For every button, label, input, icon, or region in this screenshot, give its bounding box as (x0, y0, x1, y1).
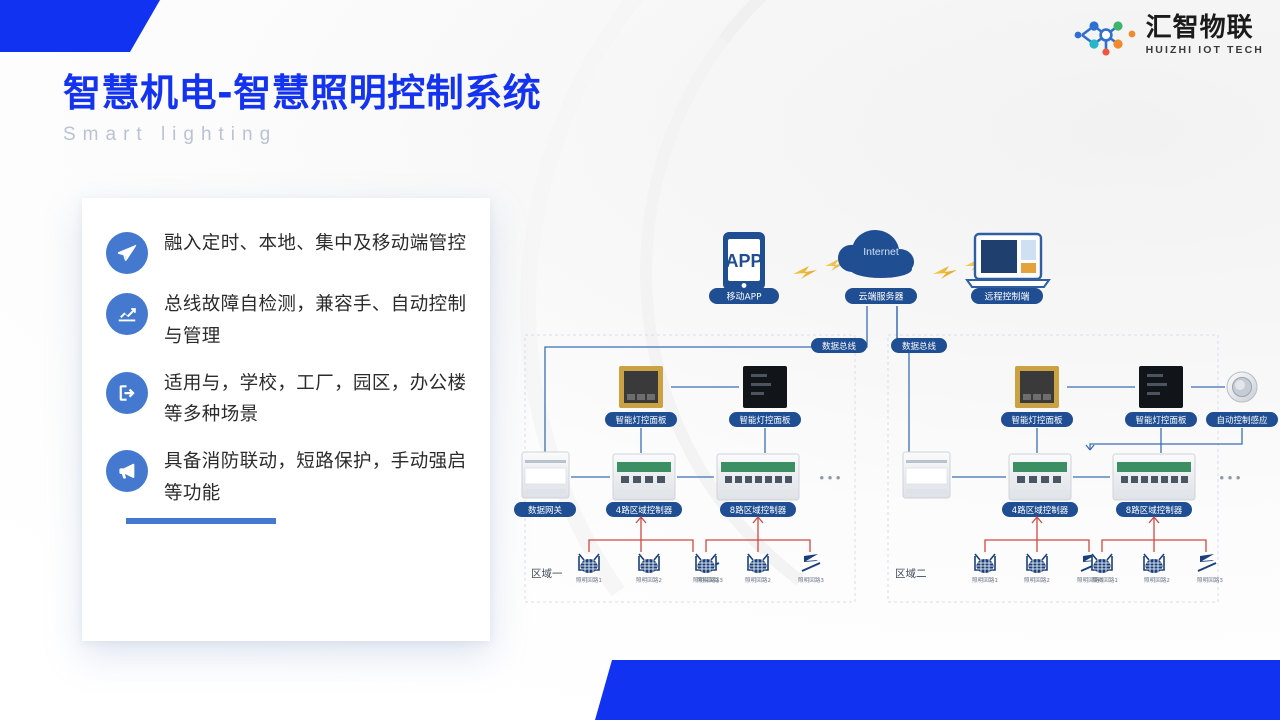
features-card: 融入定时、本地、集中及移动端管控 总线故障自检测，兼容手、自动控制与管理 适用与… (82, 198, 490, 641)
zone-one-panel-1-badge[interactable]: 智能灯控面板 (605, 412, 677, 427)
zone-two-link-lines (952, 387, 1242, 477)
svg-text:照明回路2: 照明回路2 (1024, 576, 1050, 584)
svg-text:照明回路2: 照明回路2 (1144, 576, 1170, 584)
zone-two-panel-1-badge[interactable]: 智能灯控面板 (1001, 412, 1073, 427)
auto-sensor-label: 自动控制感应 (1216, 415, 1268, 426)
mobile-app-label: 移动APP (726, 291, 762, 303)
svg-text:照明回路1: 照明回路1 (576, 576, 602, 584)
app-glyph-text: APP (725, 251, 762, 271)
mobile-app-badge[interactable]: 移动APP (709, 288, 779, 304)
zone-two-lamps-cluster2 (1092, 554, 1216, 573)
zone-two-gateway-icon (903, 452, 950, 498)
zone-one-panel-2-badge[interactable]: 智能灯控面板 (729, 412, 801, 427)
svg-text:照明回路2: 照明回路2 (636, 576, 662, 584)
zone-one-panel-1-icon (619, 366, 663, 408)
svg-text:照明回路2: 照明回路2 (745, 576, 771, 584)
zone-two-circuit-labels-b: 照明回路1 照明回路2 照明回路3 (1092, 576, 1223, 584)
zone-one-controller-4ch-icon (613, 454, 675, 500)
lamp-icon-downlight-3-1 (975, 554, 995, 573)
zone-one-controller-4ch-badge[interactable]: 4路区域控制器 (606, 502, 682, 517)
logo-brand-en: HUIZHI IOT TECH (1146, 45, 1264, 56)
page-title: 智慧机电-智慧照明控制系统 (63, 70, 541, 118)
zone-two-gateway-badge[interactable]: 数据网关 (895, 502, 957, 517)
zone-one-cluster2-lamps (696, 554, 820, 573)
zone-one-panel-2-icon (743, 366, 787, 408)
zone-panel-one (525, 335, 855, 602)
feature-text-3: 适用与，学校，工厂，园区，办公楼等多种场景 (164, 368, 468, 432)
lamp-icon-downlight-2-2 (748, 554, 768, 573)
svg-text:照明回路1: 照明回路1 (693, 576, 719, 584)
cloud-server-label: 云端服务器 (858, 291, 903, 303)
brand-logo: 汇智物联 HUIZHI IOT TECH (1074, 14, 1264, 56)
wireless-bolt-icon-1 (793, 259, 845, 279)
zone-two-controller-4ch-badge[interactable]: 4路区域控制器 (1002, 502, 1078, 517)
cloud-server-icon: Internet (838, 230, 914, 278)
page-title-block: 智慧机电-智慧照明控制系统 Smart lighting (63, 70, 541, 146)
zone-two-controller-4ch-icon (1009, 454, 1071, 500)
zone-one-controller-8ch-label: 8路区域控制器 (730, 505, 787, 516)
lamp-icon-downlight-2 (639, 554, 659, 573)
zone-two-lamps-cluster1 (975, 554, 1099, 573)
page-subtitle: Smart lighting (63, 124, 541, 146)
cloud-internet-text: Internet (863, 246, 899, 258)
bus-badge-2[interactable]: 数据总线 (891, 338, 947, 353)
zone-two-group: 数据网关 智能灯控面板 智能灯控面板 (895, 366, 1278, 584)
svg-text:照明回路1: 照明回路1 (972, 576, 998, 584)
zone-one-label: 区域一 (531, 567, 563, 580)
svg-text:照明回路1: 照明回路1 (1092, 576, 1118, 584)
lamp-icon-downlight-3-2 (1027, 554, 1047, 573)
feature-text-2: 总线故障自检测，兼容手、自动控制与管理 (164, 289, 468, 353)
zone-one-controller-8ch-badge[interactable]: 8路区域控制器 (720, 502, 796, 517)
auto-sensor-badge[interactable]: 自动控制感应 (1206, 412, 1278, 427)
zone-one-gateway-icon (522, 452, 569, 498)
zone-two-controller-8ch-badge[interactable]: 8路区域控制器 (1116, 502, 1192, 517)
feature-item-4[interactable]: 具备消防联动，短路保护，手动强启等功能 (106, 446, 468, 510)
zone-two-panel-1-label: 智能灯控面板 (1011, 415, 1063, 426)
auto-sensor-icon (1227, 372, 1257, 402)
bus-label-2: 数据总线 (902, 341, 937, 352)
zone-two-controller-8ch-icon (1113, 454, 1195, 500)
zone-two-controller-4ch-label: 4路区域控制器 (1012, 505, 1069, 516)
feature-text-1: 融入定时、本地、集中及移动端管控 (164, 228, 466, 260)
zone-two-power-wiring (985, 517, 1206, 552)
zone-two-ellipsis: • • • (1220, 470, 1241, 485)
zone-one-gateway-label: 数据网关 (528, 505, 563, 516)
bus-connector-lines (545, 306, 909, 452)
zone-one-power-wiring (589, 517, 810, 552)
zone-two-panel-2-icon (1139, 366, 1183, 408)
lamp-icon-downlight-4-1 (1092, 554, 1112, 573)
zone-one-ellipsis: • • • (820, 470, 841, 485)
card-accent-rule (126, 518, 276, 524)
mobile-app-device-icon: APP (723, 232, 765, 290)
zone-one-circuit-labels-cluster2: 照明回路1 照明回路2 照明回路3 (693, 576, 824, 584)
remote-terminal-label: 远程控制端 (984, 291, 1029, 303)
feature-item-1[interactable]: 融入定时、本地、集中及移动端管控 (106, 228, 468, 274)
zone-two-label: 区域二 (895, 567, 927, 580)
lamp-icon-striplight-2-3 (802, 554, 820, 571)
zone-two-panel-2-badge[interactable]: 智能灯控面板 (1125, 412, 1197, 427)
svg-text:照明回路3: 照明回路3 (1197, 576, 1223, 584)
lamp-icon-downlight-2-1 (696, 554, 716, 573)
megaphone-icon (106, 450, 148, 492)
zone-two-controller-8ch-label: 8路区域控制器 (1126, 505, 1183, 516)
remote-terminal-badge[interactable]: 远程控制端 (971, 288, 1043, 304)
lamp-icon-downlight-1 (579, 554, 599, 573)
lamp-icon-downlight-4-2 (1144, 554, 1164, 573)
top-left-blue-shape (0, 0, 160, 52)
zone-two-panel-1-icon (1015, 366, 1059, 408)
zone-two-panel-2-label: 智能灯控面板 (1135, 415, 1187, 426)
lamp-icon-striplight-4-3 (1198, 554, 1216, 571)
bus-label-1: 数据总线 (822, 341, 857, 352)
svg-text:照明回路3: 照明回路3 (798, 576, 824, 584)
trend-chart-icon (106, 293, 148, 335)
zone-one-panel-2-label: 智能灯控面板 (739, 415, 791, 426)
zone-one-controller-4ch-label: 4路区域控制器 (616, 505, 673, 516)
zone-one-gateway-badge[interactable]: 数据网关 (514, 502, 576, 517)
send-plane-icon (106, 232, 148, 274)
zone-one-controller-8ch-icon (717, 454, 799, 500)
bottom-right-blue-shape (0, 660, 1280, 720)
bus-badge-1[interactable]: 数据总线 (811, 338, 867, 353)
logo-brand-cn: 汇智物联 (1146, 15, 1264, 41)
zone-one-panel-1-label: 智能灯控面板 (615, 415, 667, 426)
feature-text-4: 具备消防联动，短路保护，手动强启等功能 (164, 446, 468, 510)
zone-one-group: 数据网关 智能灯控面板 智能灯控面板 (514, 366, 841, 584)
feature-item-2[interactable]: 总线故障自检测，兼容手、自动控制与管理 (106, 289, 468, 353)
lighting-system-diagram: APP Internet 移动APP 云端服务器 远程控制端 (505, 222, 1280, 612)
cloud-server-badge[interactable]: 云端服务器 (845, 288, 917, 304)
logout-arrow-icon (106, 372, 148, 414)
molecule-network-icon (1074, 14, 1138, 56)
feature-item-3[interactable]: 适用与，学校，工厂，园区，办公楼等多种场景 (106, 368, 468, 432)
remote-terminal-icon (967, 234, 1049, 287)
